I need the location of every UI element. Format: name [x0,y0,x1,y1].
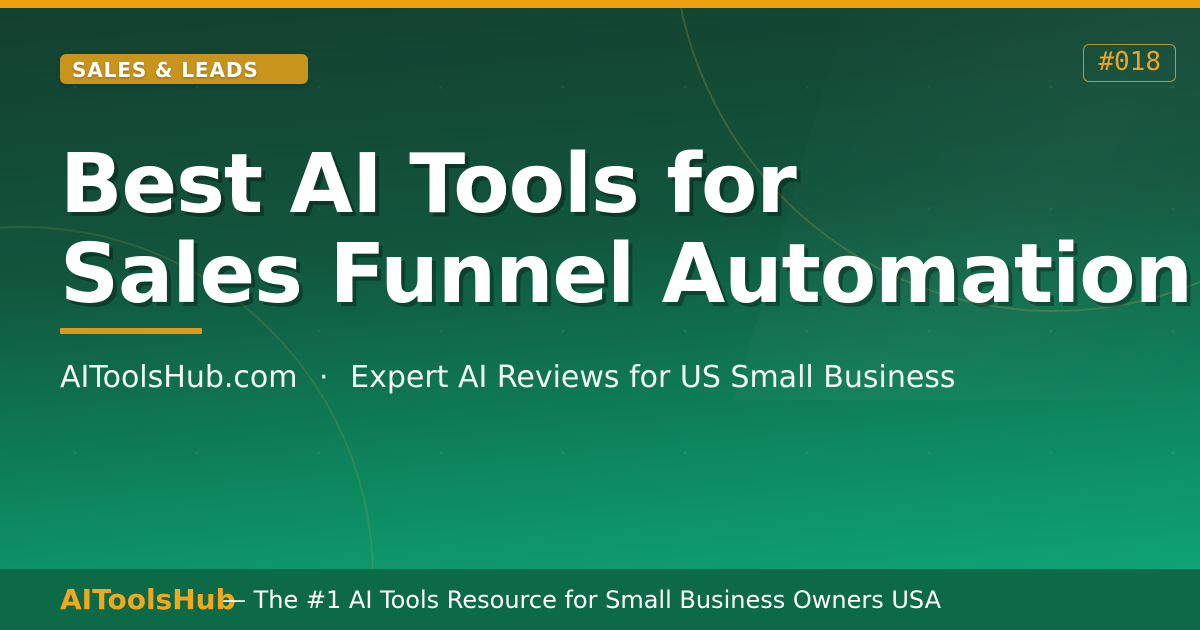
issue-number-badge: #018 [1083,44,1176,82]
subtitle-site-name: AIToolsHub.com [60,360,298,395]
social-card: SALES & LEADS #018 Best AI Tools for Sal… [0,0,1200,630]
top-accent-bar [0,0,1200,8]
page-title-line-2: Sales Funnel Automation 2025 [60,230,1200,320]
subtitle-tagline: Expert AI Reviews for US Small Business [350,360,955,395]
footer-tagline: — The #1 AI Tools Resource for Small Bus… [222,586,941,614]
subtitle-separator-dot: · [307,360,341,395]
subtitle: AIToolsHub.com · Expert AI Reviews for U… [60,360,956,395]
page-title: Best AI Tools for Sales Funnel Automatio… [60,140,1200,320]
footer-brand-name: AIToolsHub [60,583,236,616]
category-badge-label: SALES & LEADS [72,58,259,82]
page-title-line-1: Best AI Tools for [60,140,1200,230]
title-accent-rule [60,328,202,334]
